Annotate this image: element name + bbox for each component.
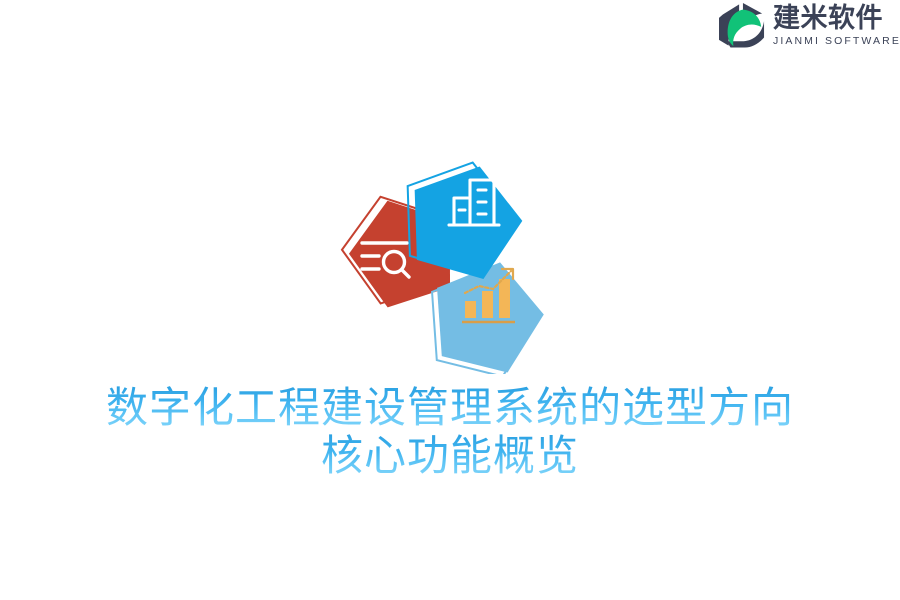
brand-company-name-en: JIANMI SOFTWARE (773, 36, 900, 47)
brand-company-name: 建米软件 (773, 5, 900, 32)
jianmi-logo-mark (718, 2, 766, 48)
brand-text-group: 建米软件 JIANMI SOFTWARE (773, 4, 900, 47)
page-title-line-1: 数字化工程建设管理系统的选型方向 (0, 384, 900, 432)
page-title: 数字化工程建设管理系统的选型方向 核心功能概览 (0, 384, 900, 480)
page-title-line-2: 核心功能概览 (0, 432, 900, 480)
brand-logo: 建米软件 JIANMI SOFTWARE (718, 0, 900, 50)
pentagon-cluster-graphic (318, 128, 582, 374)
